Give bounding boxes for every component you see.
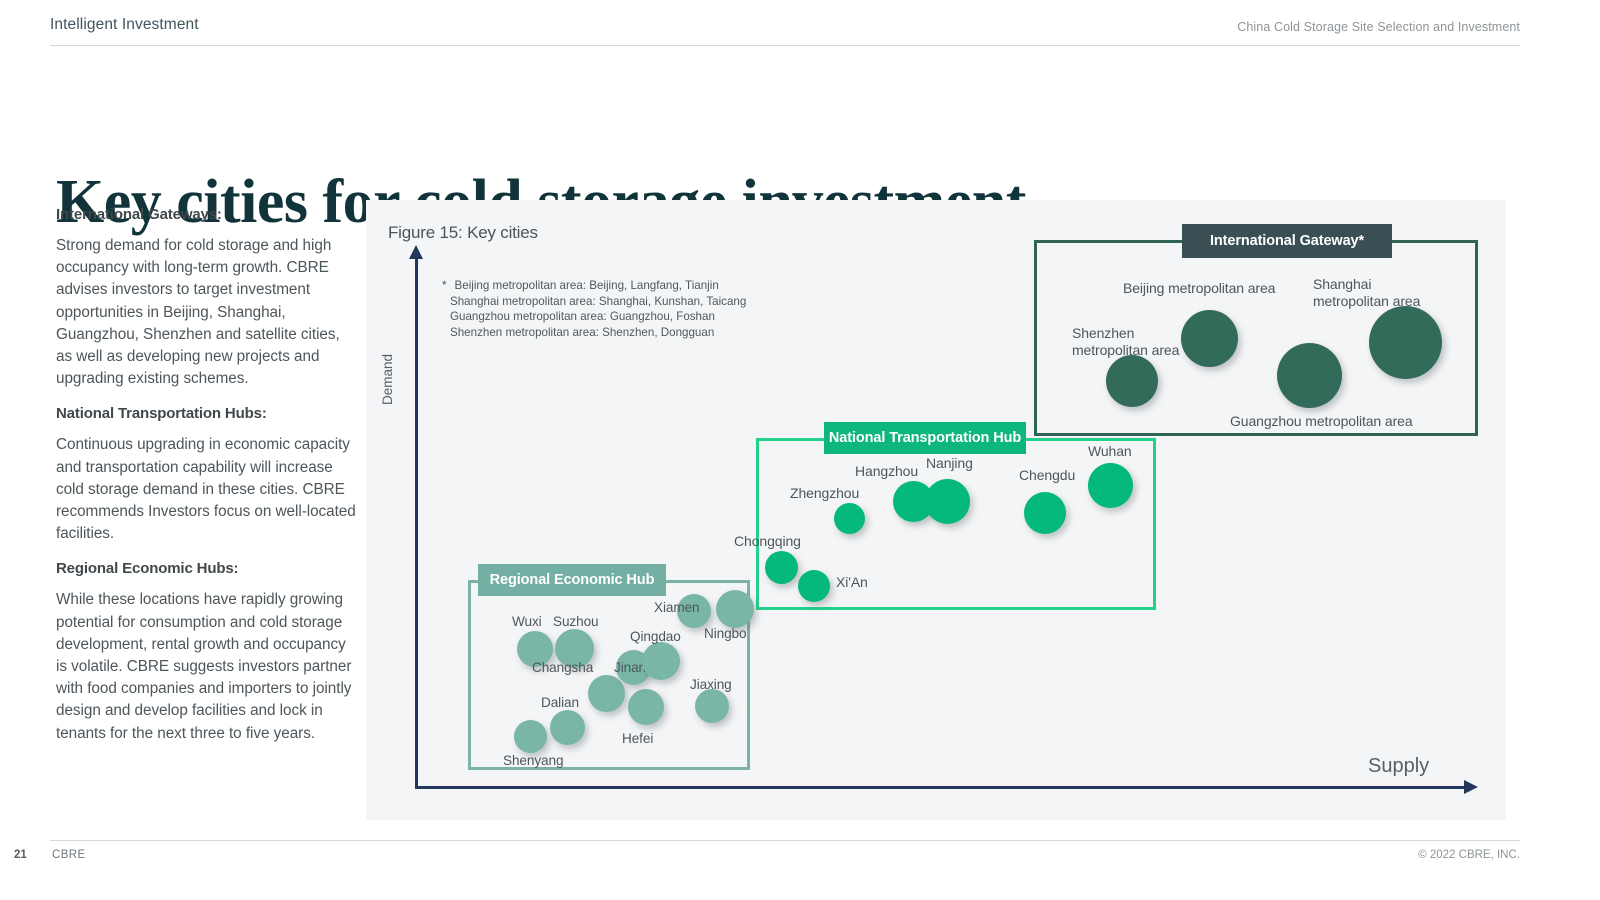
bubble-shenzhen-metropolitan-area[interactable]: [1106, 355, 1158, 407]
bubble-label-shenyang: Shenyang: [503, 752, 563, 769]
bubble-label-shenzhen-metropolitan-area: Shenzhen metropolitan area: [1072, 325, 1184, 359]
bubble-label-shanghai-metropolitan-area: Shanghai metropolitan area: [1313, 276, 1425, 310]
bubble-wuhan[interactable]: [1088, 463, 1133, 508]
bubble-zhengzhou[interactable]: [834, 503, 865, 534]
bubble-label-suzhou: Suzhou: [553, 613, 599, 630]
bubble-label-xiamen: Xiamen: [654, 599, 700, 616]
bubble-label-zhengzhou: Zhengzhou: [790, 485, 859, 502]
header-right-title: China Cold Storage Site Selection and In…: [1237, 20, 1520, 34]
footnote-line-1: Beijing metropolitan area: Beijing, Lang…: [455, 279, 719, 292]
y-axis-label: Demand: [380, 354, 395, 405]
bubble-chongqing[interactable]: [765, 551, 798, 584]
bubble-label-hangzhou: Hangzhou: [855, 463, 918, 480]
section-body-regional-economic-hubs: While these locations have rapidly growi…: [56, 589, 356, 744]
section-heading-regional-economic-hubs: Regional Economic Hubs:: [56, 559, 356, 579]
bubble-ningbo[interactable]: [716, 590, 754, 628]
bubble-jiaxing[interactable]: [695, 689, 729, 723]
bubble-dalian[interactable]: [550, 710, 585, 745]
bubble-hefei[interactable]: [628, 689, 664, 725]
group-label-regional-economic-hub: Regional Economic Hub: [478, 564, 666, 596]
footnote-line-4: Shenzhen metropolitan area: Shenzhen, Do…: [450, 325, 746, 341]
header-left-title: Intelligent Investment: [50, 16, 199, 34]
left-text-column: International Gateways: Strong demand fo…: [56, 205, 356, 759]
chart-panel: Figure 15: Key cities Demand Supply *Bei…: [366, 200, 1506, 820]
x-axis-line: [415, 786, 1466, 789]
group-label-national-transportation-hub: National Transportation Hub: [824, 422, 1026, 454]
bubble-label-nanjing: Nanjing: [926, 455, 973, 472]
bubble-label-qingdao: Qingdao: [630, 628, 681, 645]
bubble-xian[interactable]: [798, 570, 830, 602]
bubble-qingdao[interactable]: [642, 642, 680, 680]
chart-footnote: *Beijing metropolitan area: Beijing, Lan…: [450, 278, 746, 341]
bubble-label-ningbo: Ningbo: [704, 625, 746, 642]
bubble-label-guangzhou-metropolitan-area: Guangzhou metropolitan area: [1230, 413, 1413, 430]
y-axis-arrow-icon: [409, 245, 423, 259]
bubble-label-hefei: Hefei: [622, 730, 653, 747]
footer-divider: [50, 840, 1520, 841]
figure-title: Figure 15: Key cities: [388, 223, 538, 243]
bubble-guangzhou-metropolitan-area[interactable]: [1277, 343, 1342, 408]
y-axis-line: [415, 256, 418, 786]
footnote-line-2: Shanghai metropolitan area: Shanghai, Ku…: [450, 294, 746, 310]
header-divider: [50, 45, 1520, 46]
bubble-label-chengdu: Chengdu: [1019, 467, 1075, 484]
bubble-shenyang[interactable]: [514, 720, 547, 753]
footer-page-number: 21: [14, 849, 27, 861]
section-body-international-gateways: Strong demand for cold storage and high …: [56, 235, 356, 390]
bubble-label-jiaxing: Jiaxing: [690, 676, 732, 693]
group-label-international-gateway: International Gateway*: [1182, 224, 1392, 258]
bubble-label-xian: Xi'An: [836, 574, 868, 591]
bubble-label-wuhan: Wuhan: [1088, 443, 1132, 460]
x-axis-arrow-icon: [1464, 780, 1478, 794]
bubble-label-beijing-metropolitan-area: Beijing metropolitan area: [1123, 280, 1275, 297]
bubble-label-dalian: Dalian: [541, 694, 579, 711]
footnote-marker: *: [442, 279, 447, 292]
bubble-label-wuxi: Wuxi: [512, 613, 542, 630]
footer-brand: CBRE: [52, 849, 86, 861]
bubble-beijing-metropolitan-area[interactable]: [1181, 310, 1238, 367]
bubble-shanghai-metropolitan-area[interactable]: [1369, 306, 1442, 379]
bubble-label-chongqing: Chongqing: [734, 533, 801, 550]
bubble-changsha[interactable]: [588, 675, 625, 712]
bubble-nanjing[interactable]: [925, 479, 970, 524]
bubble-chengdu[interactable]: [1024, 492, 1066, 534]
footnote-line-3: Guangzhou metropolitan area: Guangzhou, …: [450, 309, 746, 325]
footer-copyright: © 2022 CBRE, INC.: [1418, 849, 1520, 861]
section-heading-national-transportation-hubs: National Transportation Hubs:: [56, 404, 356, 424]
section-heading-international-gateways: International Gateways:: [56, 205, 356, 225]
section-body-national-transportation-hubs: Continuous upgrading in economic capacit…: [56, 434, 356, 545]
x-axis-label: Supply: [1368, 755, 1429, 778]
bubble-label-changsha: Changsha: [532, 659, 593, 676]
